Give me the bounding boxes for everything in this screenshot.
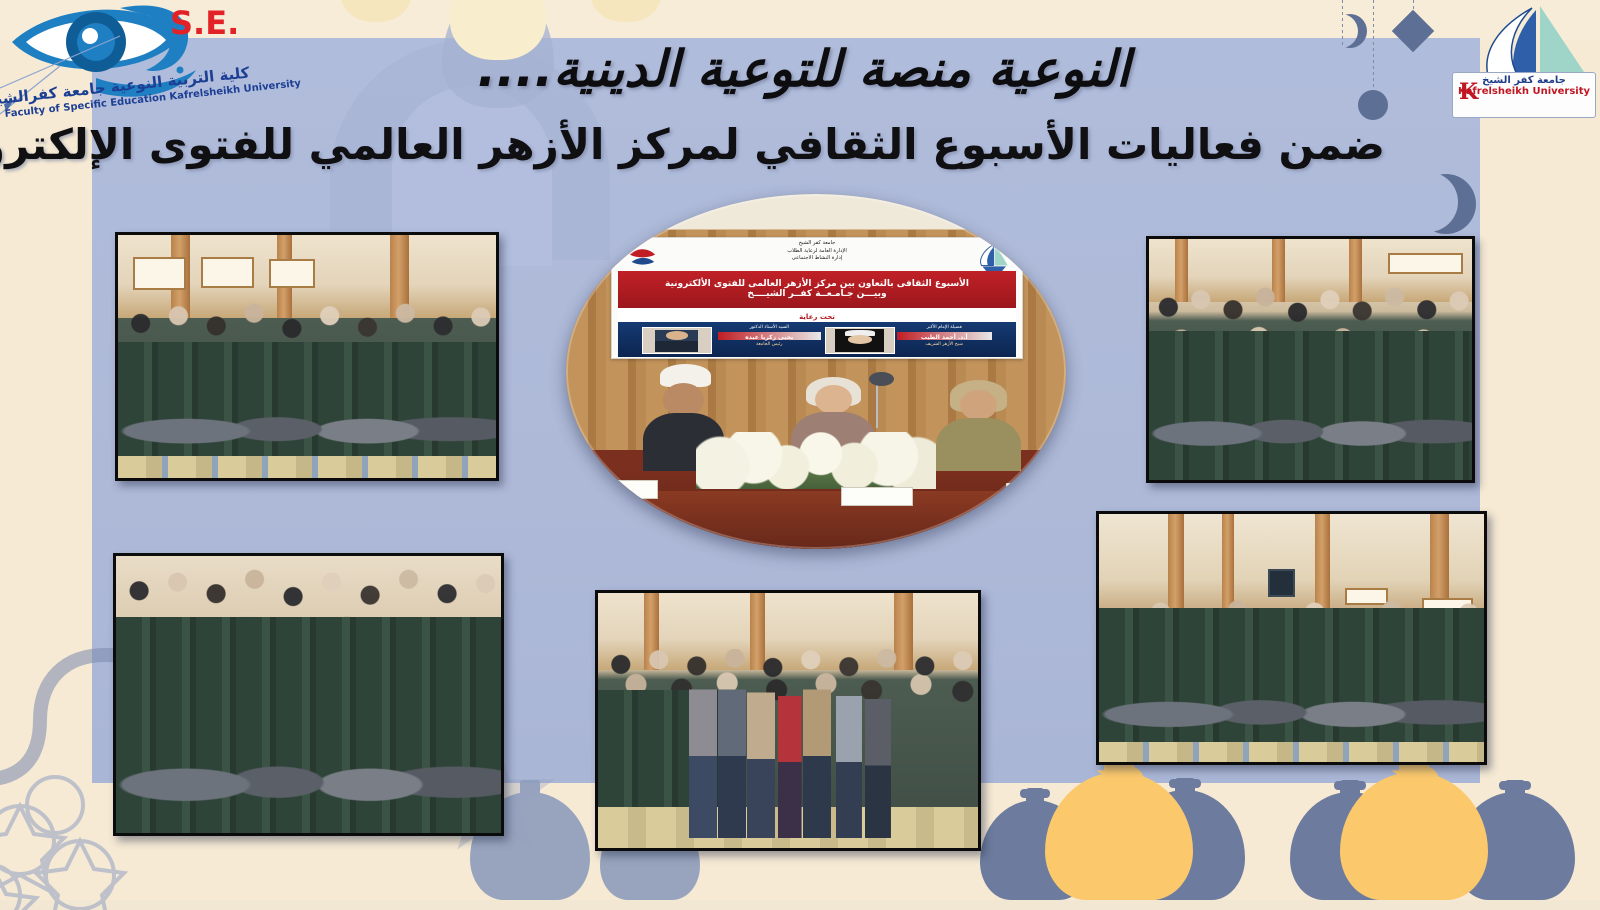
photo-hall-bottom-right[interactable] (1096, 511, 1487, 765)
large-crescent-icon (1398, 172, 1458, 232)
photo-scene (116, 556, 501, 833)
photo-audience-top-left[interactable] (115, 232, 499, 481)
university-logo: جامعة كفر الشيخ Kafrelsheikh University … (1448, 4, 1598, 124)
hanging-crescent-ornament (1325, 0, 1359, 48)
inverted-dome-icon (340, 0, 412, 22)
oval-frame (566, 194, 1066, 549)
inverted-dome-icon (590, 0, 662, 22)
photo-scene (118, 235, 496, 478)
hanging-circle-ornament (1358, 0, 1388, 120)
diamond-icon (1392, 10, 1434, 52)
poster-title-line-2: ضمن فعاليات الأسبوع الثقافي لمركز الأزهر… (205, 120, 1385, 169)
university-logo-monogram: K (1459, 79, 1478, 105)
photo-scene (1149, 239, 1472, 480)
crescent-icon (1324, 14, 1358, 48)
university-logo-nameplate: جامعة كفر الشيخ Kafrelsheikh University … (1452, 72, 1596, 118)
photo-audience-top-right[interactable] (1146, 236, 1475, 483)
poster-canvas: ★ ★ (0, 0, 1600, 900)
photo-scene (1099, 514, 1484, 762)
faculty-logo-initials: S.E. (170, 4, 239, 42)
photo-audience-bottom-left[interactable] (113, 553, 504, 836)
name-card (1006, 483, 1066, 503)
poster-title-line-1: النوعية منصة للتوعية الدينية.... (130, 40, 1130, 98)
circle-icon (1358, 90, 1388, 120)
photo-standing-bottom-center[interactable] (595, 590, 981, 851)
photo-scene (598, 593, 978, 848)
photo-panel-oval-center[interactable]: جامعة كفر الشيخ الإدارة العامة لرعاية ال… (566, 194, 1066, 549)
hanging-diamond-ornament (1398, 0, 1428, 48)
